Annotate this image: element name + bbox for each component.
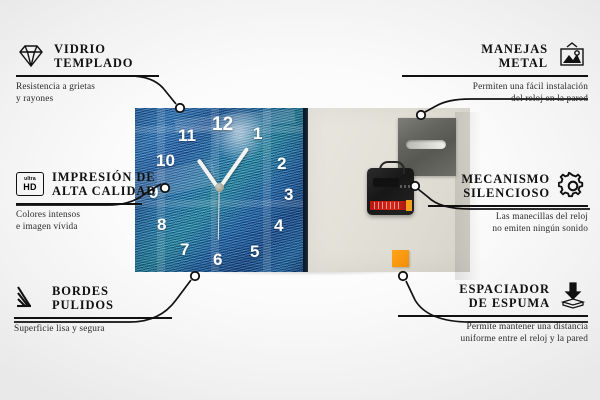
feature-vidrio-templado[interactable]: VIDRIO TEMPLADO Resistencia a grietas y … xyxy=(16,42,176,105)
feature-title-line2: SILENCIOSO xyxy=(461,186,550,200)
feature-desc-line1: Resistencia a grietas xyxy=(16,81,176,93)
feature-title-line1: MECANISMO xyxy=(461,172,550,186)
hotspot-vidrio-templado xyxy=(176,104,184,112)
feature-mecanismo-silencioso[interactable]: MECANISMO SILENCIOSO Las manecillas del … xyxy=(410,172,588,235)
feature-rule xyxy=(428,205,588,207)
feature-title-line1: VIDRIO xyxy=(54,42,133,56)
feature-rule xyxy=(16,203,142,205)
feature-desc-line1: Colores intensos xyxy=(16,209,184,221)
feature-bordes-pulidos[interactable]: BORDES PULIDOS Superficie lisa y segura xyxy=(14,284,184,335)
feature-title-line2: PULIDOS xyxy=(52,298,114,312)
feature-desc-line1: Permite mantener una distancia xyxy=(398,321,588,333)
feature-rule xyxy=(16,75,159,77)
feature-title-line1: BORDES xyxy=(52,284,114,298)
feature-title-line1: IMPRESIÓN DE xyxy=(52,170,156,184)
feature-title-line1: ESPACIADOR xyxy=(459,282,550,296)
hotspot-espaciador xyxy=(399,272,407,280)
hotspot-manejas xyxy=(417,111,425,119)
foam-spacer-icon xyxy=(558,282,588,310)
picture-hanger-icon xyxy=(556,42,588,70)
ultra-hd-icon-top: ultra xyxy=(24,177,36,182)
feature-rule xyxy=(402,75,588,77)
feature-title-line2: DE ESPUMA xyxy=(459,296,550,310)
feature-manejas-metal[interactable]: MANEJAS METAL Permiten una fácil instala… xyxy=(402,42,588,105)
feature-desc-line1: Las manecillas del reloj xyxy=(410,211,588,223)
feature-title-line2: TEMPLADO xyxy=(54,56,133,70)
feature-desc-line2: no emiten ningún sonido xyxy=(410,223,588,235)
feature-rule xyxy=(14,317,172,319)
feature-title-line2: METAL xyxy=(481,56,548,70)
feature-desc-line2: e imagen vívida xyxy=(16,221,184,233)
feature-desc-line2: uniforme entre el reloj y la pared xyxy=(398,333,588,345)
feature-desc-line1: Superficie lisa y segura xyxy=(14,323,184,335)
feature-rule xyxy=(398,315,588,317)
polished-edges-icon xyxy=(14,285,44,311)
diamond-icon xyxy=(16,43,46,69)
ultra-hd-icon: ultra HD xyxy=(16,172,44,196)
feature-title-line2: ALTA CALIDAD xyxy=(52,184,156,198)
feature-desc-line2: y rayones xyxy=(16,93,176,105)
infographic-canvas: 12 1 2 3 4 5 6 7 8 9 10 11 xyxy=(0,0,600,400)
feature-desc-line1: Permiten una fácil instalación xyxy=(402,81,588,93)
ultra-hd-icon-bottom: HD xyxy=(23,183,37,192)
gear-icon xyxy=(558,172,588,200)
hotspot-bordes xyxy=(191,272,199,280)
feature-espaciador-espuma[interactable]: ESPACIADOR DE ESPUMA Permite mantener un… xyxy=(398,282,588,345)
feature-desc-line2: del reloj en la pared xyxy=(402,93,588,105)
feature-title-line1: MANEJAS xyxy=(481,42,548,56)
feature-impresion-alta-calidad[interactable]: ultra HD IMPRESIÓN DE ALTA CALIDAD Color… xyxy=(16,170,184,233)
